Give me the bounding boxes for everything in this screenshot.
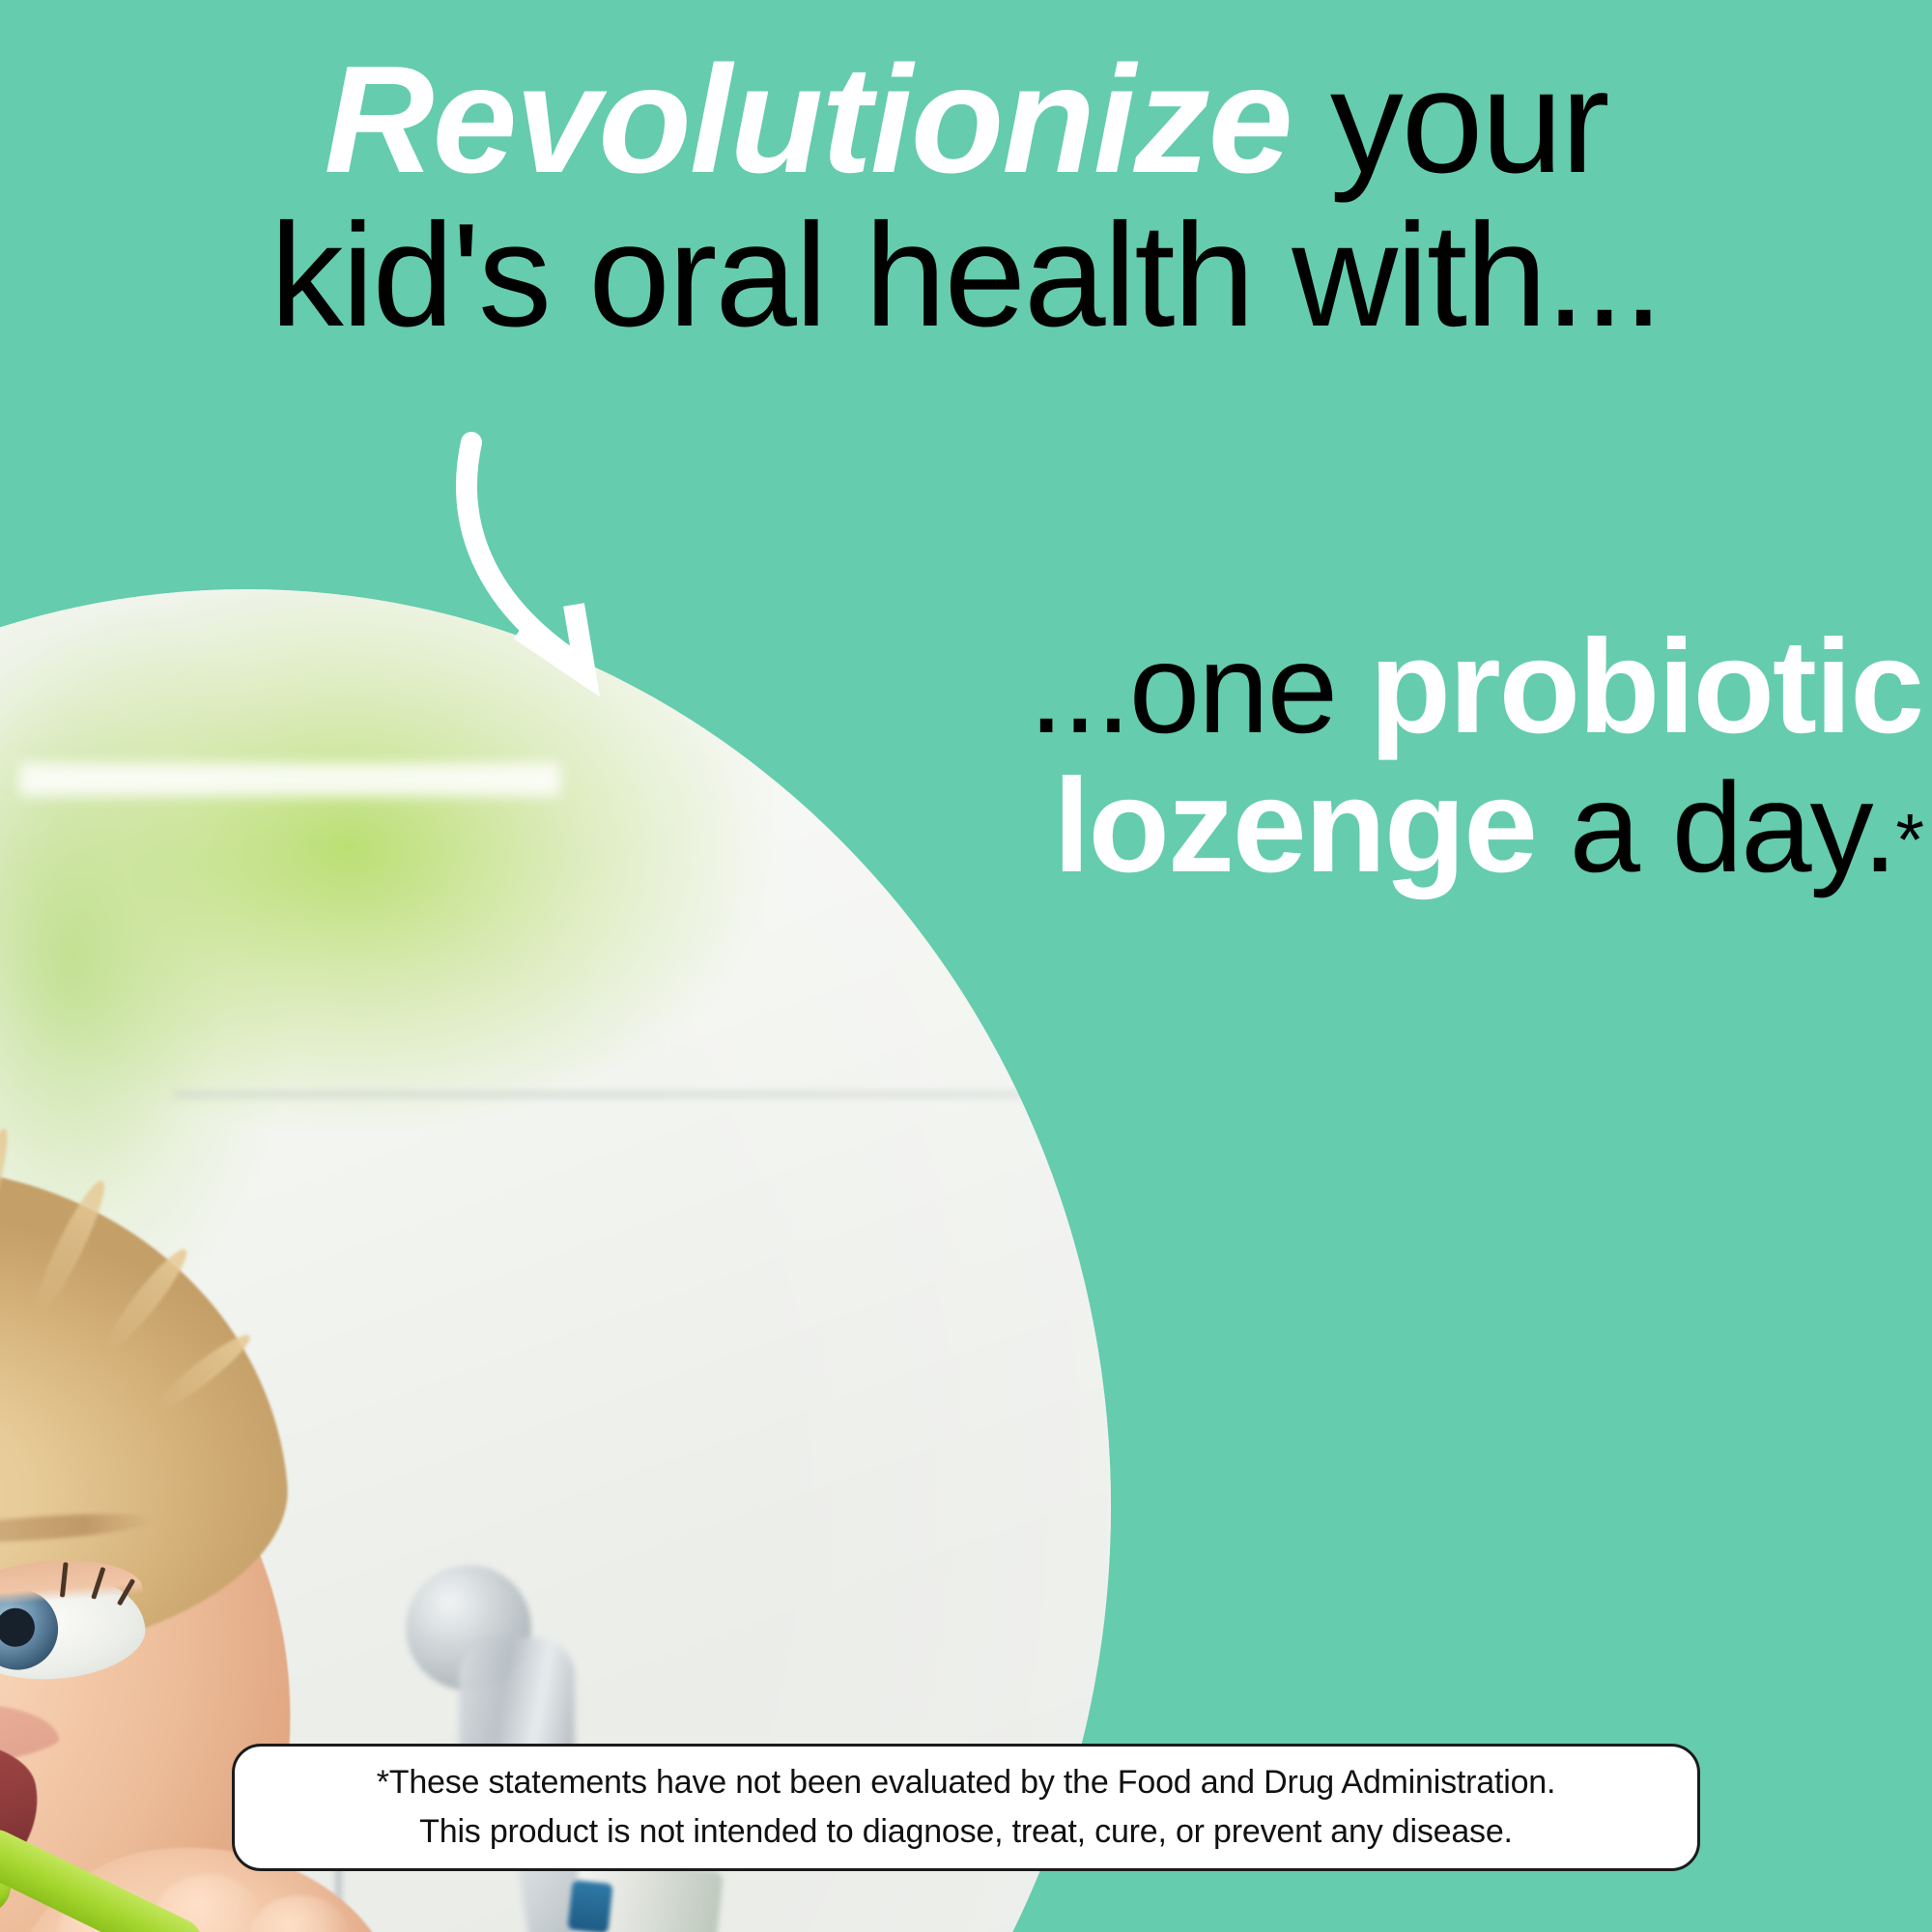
- asterisk-marker: *: [1895, 799, 1922, 881]
- headline-plain-one: ...one: [1029, 617, 1370, 759]
- headline-b-line-1: ...one probiotic: [676, 618, 1922, 757]
- headline-b-line-2: lozenge a day.*: [676, 757, 1922, 896]
- headline-emphasis-lozenge: lozenge: [1053, 752, 1536, 900]
- headline-plain-a-day: a day.: [1536, 756, 1895, 898]
- headline-emphasis-probiotic: probiotic: [1370, 612, 1922, 761]
- headline-line-2: kid's oral health with...: [0, 199, 1932, 352]
- fda-disclaimer-box: *These statements have not been evaluate…: [232, 1744, 1700, 1871]
- headline-line-1: Revolutionize your: [0, 41, 1932, 199]
- headline-secondary: ...one probiotic lozenge a day.*: [676, 618, 1922, 895]
- disclaimer-line-2: This product is not intended to diagnose…: [419, 1807, 1513, 1857]
- promo-poster: Revolutionize your kid's oral health wit…: [0, 0, 1932, 1932]
- eye-right: [0, 1569, 149, 1686]
- disclaimer-line-1: *These statements have not been evaluate…: [377, 1758, 1556, 1807]
- headline-emphasis-revolutionize: Revolutionize: [325, 35, 1292, 205]
- headline-primary: Revolutionize your kid's oral health wit…: [0, 41, 1932, 352]
- headline-plain-your: your: [1292, 40, 1608, 204]
- headline-plain-kids-oral-health: kid's oral health with...: [270, 193, 1662, 357]
